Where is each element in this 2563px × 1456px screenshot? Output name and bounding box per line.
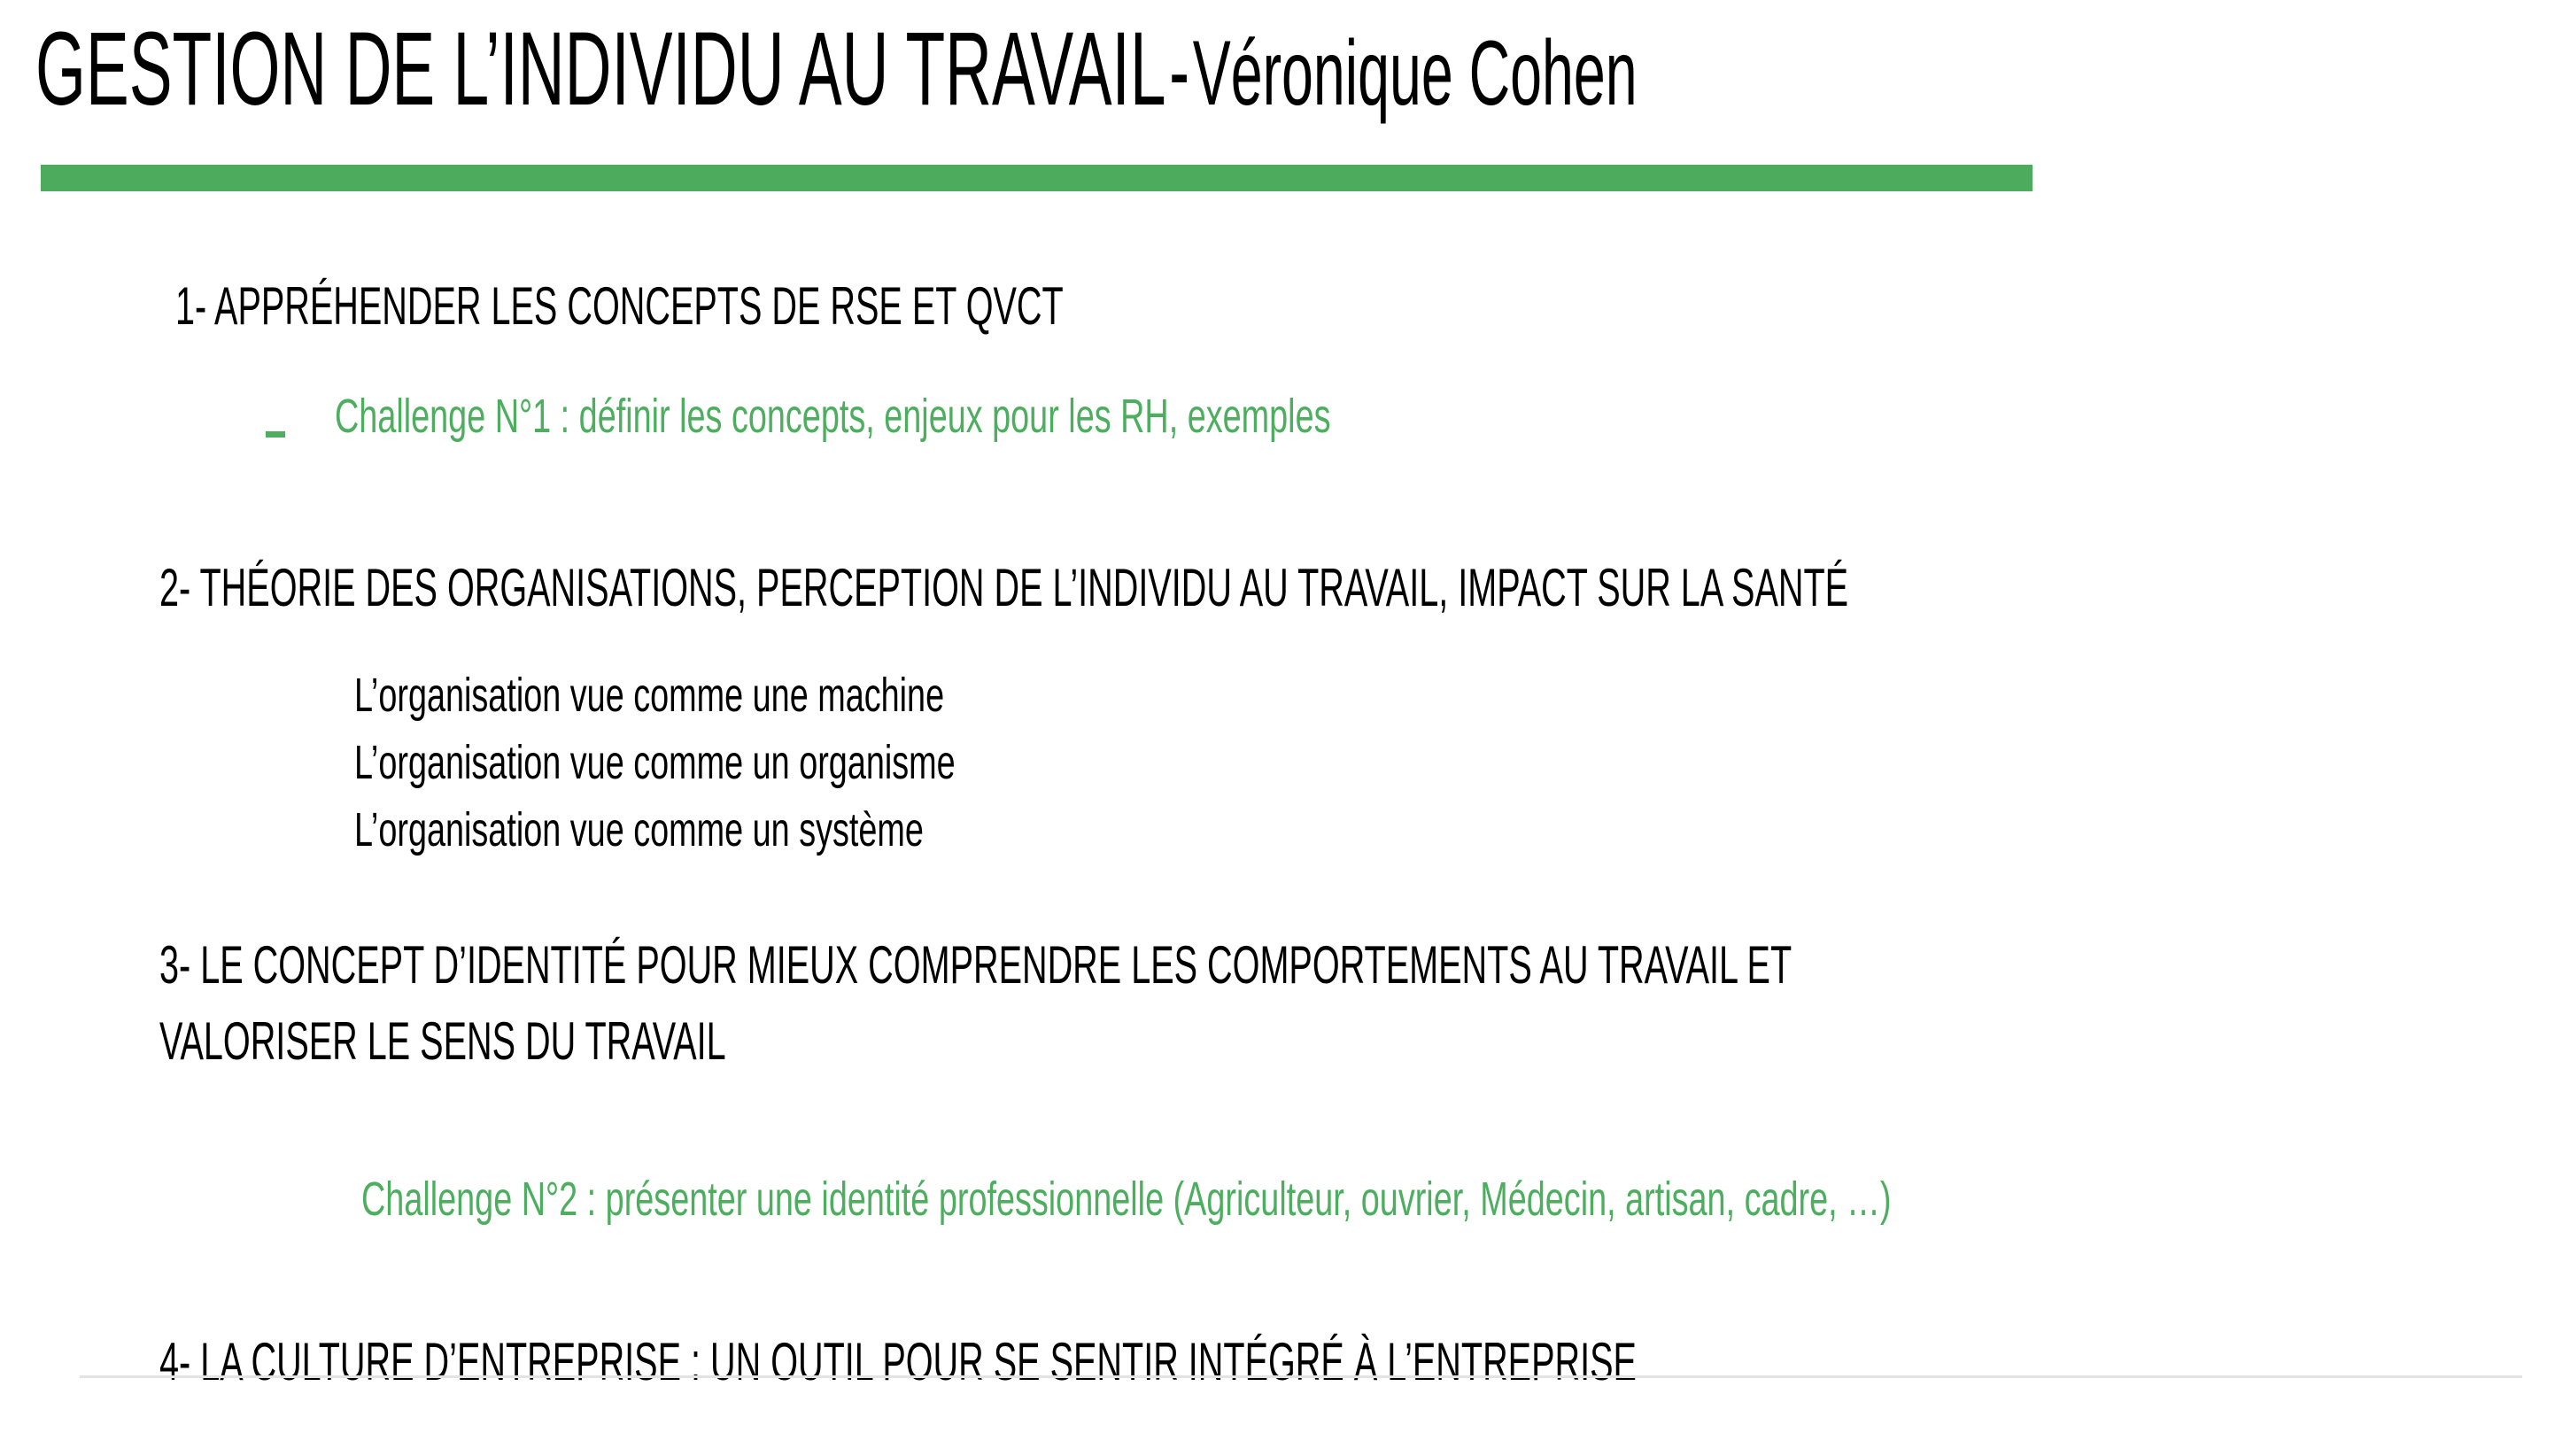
- page-title-inner: GESTION DE L’INDIVIDU AU TRAVAIL-Véroniq…: [35, 16, 1638, 154]
- section-4-heading-text: 4- LA CULTURE D’ENTREPRISE : UN OUTIL PO…: [159, 1336, 1637, 1389]
- page-title: GESTION DE L’INDIVIDU AU TRAVAIL-Véroniq…: [35, 16, 2563, 122]
- section-1-challenge-1-text: Challenge N°1 : définir les concepts, en…: [335, 392, 1330, 440]
- section-2-bullet-3-text: L’organisation vue comme un système: [354, 806, 924, 854]
- title-accent-bar: [41, 165, 2033, 191]
- section-4-heading: 4- LA CULTURE D’ENTREPRISE : UN OUTIL PO…: [159, 1336, 2397, 1389]
- page-title-subtitle: Véronique Cohen: [1193, 22, 1638, 125]
- section-3-heading-line-2: VALORISER LE SENS DU TRAVAIL: [159, 1015, 1018, 1068]
- bottom-divider: [80, 1375, 2522, 1378]
- section-1-challenge-1: Challenge N°1 : définir les concepts, en…: [335, 392, 1757, 440]
- bullet-dash-icon: [266, 431, 285, 438]
- section-3-challenge-1-text: Challenge N°2 : présenter une identité p…: [361, 1175, 1892, 1223]
- section-2-heading-text: 2- THÉORIE DES ORGANISATIONS, PERCEPTION…: [159, 561, 1848, 615]
- page-title-main: GESTION DE L’INDIVIDU AU TRAVAIL: [35, 11, 1166, 128]
- page-title-separator: -: [1166, 17, 1193, 126]
- section-2-bullet-1: L’organisation vue comme une machine: [354, 671, 1197, 719]
- section-2-bullet-3: L’organisation vue comme un système: [354, 806, 1167, 854]
- section-2-heading: 2- THÉORIE DES ORGANISATIONS, PERCEPTION…: [159, 561, 2563, 615]
- section-1-heading-text: 1- APPRÉHENDER LES CONCEPTS DE RSE ET QV…: [175, 280, 1064, 333]
- section-3-heading-line-2-text: VALORISER LE SENS DU TRAVAIL: [159, 1015, 726, 1068]
- section-1-heading: 1- APPRÉHENDER LES CONCEPTS DE RSE ET QV…: [175, 280, 1521, 333]
- section-3-heading-line-1: 3- LE CONCEPT D’IDENTITÉ POUR MIEUX COMP…: [159, 939, 2563, 992]
- section-2-bullet-2: L’organisation vue comme un organisme: [354, 739, 1213, 786]
- section-2-bullet-1-text: L’organisation vue comme une machine: [354, 671, 944, 719]
- section-3-challenge-1: Challenge N°2 : présenter une identité p…: [361, 1175, 2547, 1223]
- section-3-heading-line-1-text: 3- LE CONCEPT D’IDENTITÉ POUR MIEUX COMP…: [159, 939, 1792, 992]
- section-2-bullet-2-text: L’organisation vue comme un organisme: [354, 739, 956, 786]
